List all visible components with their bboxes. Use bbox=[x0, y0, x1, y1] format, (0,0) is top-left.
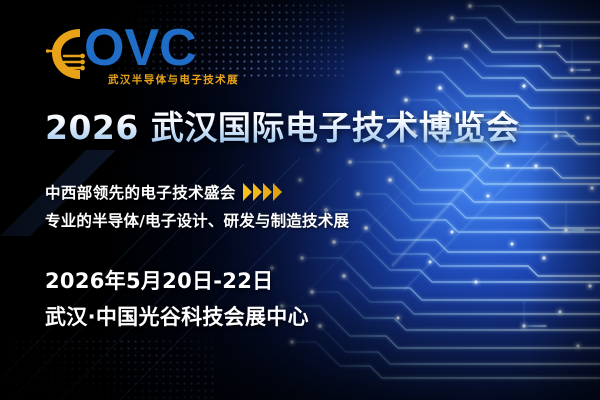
event-venue: 武汉·中国光谷科技会展中心 bbox=[45, 301, 309, 331]
logo-wordmark: OVC bbox=[84, 22, 197, 74]
chevron-right-icon bbox=[273, 183, 282, 201]
tagline-secondary: 专业的半导体/电子设计、研发与制造技术展 bbox=[45, 209, 349, 231]
event-date: 2026年5月20日-22日 bbox=[45, 265, 273, 295]
tagline-primary: 中西部领先的电子技术盛会 bbox=[45, 181, 236, 203]
chevron-right-icon bbox=[243, 183, 252, 201]
chevron-arrows bbox=[243, 183, 282, 201]
main-title: 2026 武汉国际电子技术博览会 bbox=[45, 110, 519, 146]
event-banner: OVC 武汉半导体与电子技术展 2026 武汉国际电子技术博览会 中西部领先的电… bbox=[0, 0, 600, 400]
logo-subtitle: 武汉半导体与电子技术展 bbox=[108, 72, 239, 87]
chevron-right-icon bbox=[253, 183, 262, 201]
chevron-right-icon bbox=[263, 183, 272, 201]
logo-block: OVC 武汉半导体与电子技术展 bbox=[46, 24, 296, 90]
tagline-row: 中西部领先的电子技术盛会 bbox=[45, 181, 282, 203]
